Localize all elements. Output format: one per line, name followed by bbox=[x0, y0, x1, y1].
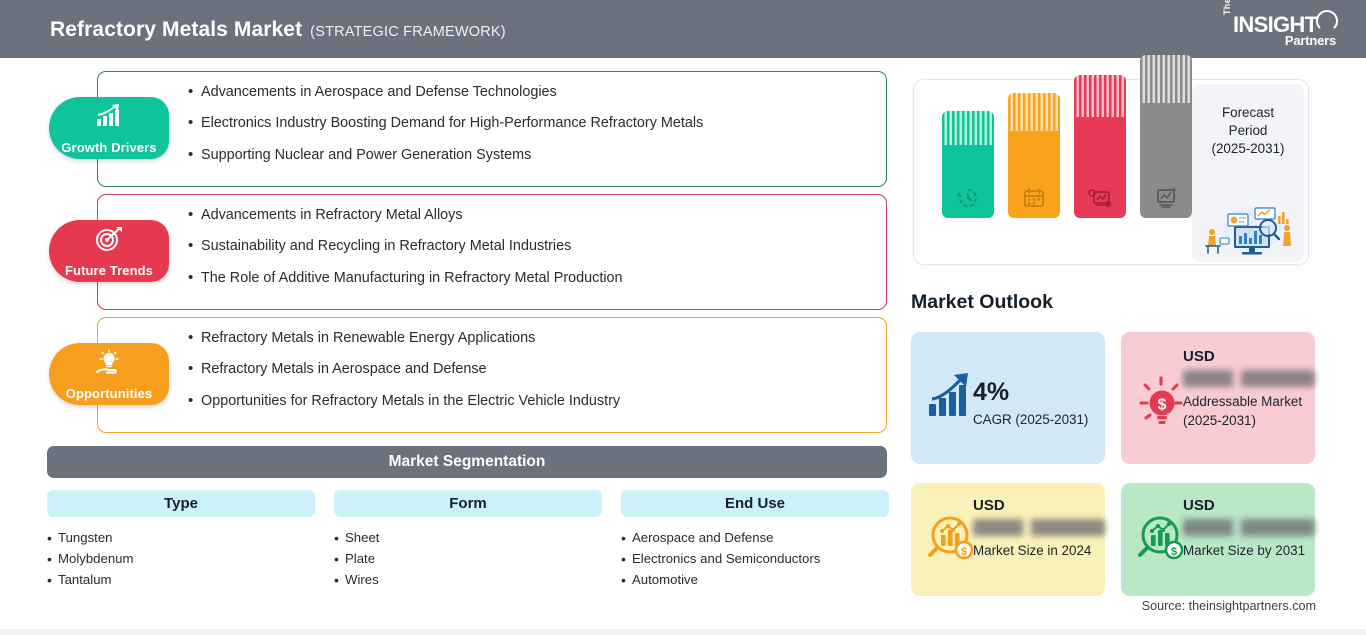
outlook-card-addressable-market[interactable]: $ USD Addressable Market (2025-2031) bbox=[1121, 332, 1315, 464]
chart-bar-estimated: 2025 Estimated Year bbox=[1074, 75, 1126, 218]
list-item: Wires bbox=[334, 570, 602, 591]
lightbulb-dollar-icon: $ bbox=[1133, 372, 1189, 428]
bar-stripe-top bbox=[1008, 93, 1060, 131]
segment-list-form: Sheet Plate Wires bbox=[334, 528, 602, 591]
list-item: Advancements in Aerospace and Defense Te… bbox=[188, 85, 886, 99]
infographic-page: Refractory Metals Market (STRATEGIC FRAM… bbox=[0, 0, 1366, 635]
list-item: Opportunities for Refractory Metals in t… bbox=[188, 394, 886, 408]
page-title: Refractory Metals Market bbox=[50, 18, 302, 42]
list-item: Supporting Nuclear and Power Generation … bbox=[188, 148, 886, 162]
chart-bar-projected: 2031 Projected Year bbox=[1140, 55, 1192, 218]
currency-label: USD bbox=[1183, 348, 1307, 365]
list-item: Plate bbox=[334, 549, 602, 570]
panel-growth-drivers: Advancements in Aerospace and Defense Te… bbox=[97, 71, 887, 187]
outlook-card-market-size-2031[interactable]: $ USD Market Size by 2031 bbox=[1121, 483, 1315, 596]
segment-header-type: Type bbox=[47, 490, 315, 517]
badge-growth-drivers[interactable]: Growth Drivers bbox=[49, 97, 169, 159]
list-item: Aerospace and Defense bbox=[621, 528, 889, 549]
segmentation-column-form: Form Sheet Plate Wires bbox=[334, 490, 602, 591]
bar-stripe-top bbox=[1140, 55, 1192, 103]
bar-solid-body bbox=[1008, 131, 1060, 218]
bar-solid-body bbox=[1140, 103, 1192, 218]
target-dart-icon bbox=[94, 226, 124, 252]
forecast-period-text: Forecast Period (2025-2031) bbox=[1192, 104, 1304, 158]
bar-solid-body bbox=[1074, 117, 1126, 218]
currency-label: USD bbox=[973, 497, 1097, 514]
list-item: Refractory Metals in Renewable Energy Ap… bbox=[188, 331, 886, 345]
badge-label: Opportunities bbox=[66, 387, 153, 400]
card-caption: Addressable Market (2025-2031) bbox=[1183, 393, 1307, 430]
list-item: Advancements in Refractory Metal Alloys bbox=[188, 208, 886, 222]
list-item: Tungsten bbox=[47, 528, 315, 549]
page-header: Refractory Metals Market (STRATEGIC FRAM… bbox=[0, 0, 1366, 58]
bottom-divider bbox=[0, 629, 1366, 635]
segmentation-column-type: Type Tungsten Molybdenum Tantalum bbox=[47, 490, 315, 591]
logo-partners-text: Partners bbox=[1285, 33, 1336, 48]
panel-future-trends: Advancements in Refractory Metal Alloys … bbox=[97, 194, 887, 310]
list-item: Sheet bbox=[334, 528, 602, 549]
currency-label: USD bbox=[1183, 497, 1307, 514]
forecast-period-panel: Forecast Period (2025-2031) bbox=[1192, 84, 1304, 262]
outlook-card-market-size-2024[interactable]: $ USD Market Size in 2024 bbox=[911, 483, 1105, 596]
market-outlook-title: Market Outlook bbox=[911, 291, 1053, 314]
history-clock-icon bbox=[955, 187, 981, 209]
segment-list-end-use: Aerospace and Defense Electronics and Se… bbox=[621, 528, 889, 591]
forecast-line-1: Forecast bbox=[1192, 104, 1304, 122]
logo-arc-icon bbox=[1316, 10, 1338, 32]
forecast-line-2: Period bbox=[1192, 122, 1304, 140]
insight-partners-logo: The INSIGHT Partners bbox=[1222, 9, 1342, 51]
list-item: Automotive bbox=[621, 570, 889, 591]
card-caption: Market Size in 2024 bbox=[973, 542, 1097, 561]
bullet-list-opportunities: Refractory Metals in Renewable Energy Ap… bbox=[98, 318, 886, 408]
segment-list-type: Tungsten Molybdenum Tantalum bbox=[47, 528, 315, 591]
bar-solid-body bbox=[942, 145, 994, 218]
segment-header-end-use: End Use bbox=[621, 490, 889, 517]
list-item: Electronics Industry Boosting Demand for… bbox=[188, 116, 886, 130]
badge-future-trends[interactable]: Future Trends bbox=[49, 220, 169, 282]
growth-chart-icon bbox=[94, 103, 124, 129]
cagr-caption: CAGR (2025-2031) bbox=[973, 412, 1097, 427]
card-caption: Market Size by 2031 bbox=[1183, 542, 1307, 561]
svg-text:$: $ bbox=[1171, 546, 1177, 558]
forecast-bar-chart: 2021-2023 Historical Years 2024 bbox=[926, 84, 1194, 262]
magnifier-bars-dollar-icon: $ bbox=[1133, 511, 1189, 567]
list-item: Refractory Metals in Aerospace and Defen… bbox=[188, 362, 886, 376]
badge-label: Growth Drivers bbox=[61, 141, 156, 154]
business-analytics-illustration bbox=[1198, 194, 1298, 256]
bar-stripe-top bbox=[1074, 75, 1126, 117]
chart-bar-historical: 2021-2023 Historical Years bbox=[942, 111, 994, 218]
outlook-card-cagr[interactable]: 4% CAGR (2025-2031) bbox=[911, 332, 1105, 464]
redacted-value bbox=[1183, 370, 1315, 387]
badge-opportunities[interactable]: Opportunities bbox=[49, 343, 169, 405]
page-subtitle: (STRATEGIC FRAMEWORK) bbox=[310, 24, 506, 40]
logo-the-text: The bbox=[1222, 0, 1232, 15]
projection-board-icon bbox=[1153, 187, 1179, 209]
forecast-analytics-icon bbox=[1087, 187, 1113, 209]
panel-opportunities: Refractory Metals in Renewable Energy Ap… bbox=[97, 317, 887, 433]
svg-text:$: $ bbox=[1158, 397, 1167, 414]
cagr-value: 4% bbox=[973, 380, 1097, 405]
list-item: Tantalum bbox=[47, 570, 315, 591]
segment-header-form: Form bbox=[334, 490, 602, 517]
calendar-icon bbox=[1021, 187, 1047, 209]
list-item: Electronics and Semiconductors bbox=[621, 549, 889, 570]
list-item: Sustainability and Recycling in Refracto… bbox=[188, 239, 886, 253]
svg-text:$: $ bbox=[961, 546, 967, 558]
badge-label: Future Trends bbox=[65, 264, 153, 277]
bar-stripe-top bbox=[942, 111, 994, 145]
market-segmentation-header: Market Segmentation bbox=[47, 446, 887, 478]
redacted-value bbox=[973, 519, 1105, 536]
magnifier-bars-dollar-icon: $ bbox=[923, 511, 979, 567]
chart-bar-base: 2024 bbox=[1008, 93, 1060, 218]
source-attribution: Source: theinsightpartners.com bbox=[1142, 599, 1316, 613]
forecast-timeline-card: 2021-2023 Historical Years 2024 bbox=[913, 79, 1309, 265]
list-item: The Role of Additive Manufacturing in Re… bbox=[188, 271, 886, 285]
forecast-line-3: (2025-2031) bbox=[1192, 140, 1304, 158]
lightbulb-hand-icon bbox=[94, 349, 124, 375]
list-item: Molybdenum bbox=[47, 549, 315, 570]
bullet-list-growth-drivers: Advancements in Aerospace and Defense Te… bbox=[98, 72, 886, 162]
header-title-group: Refractory Metals Market (STRATEGIC FRAM… bbox=[50, 18, 506, 42]
segmentation-column-end-use: End Use Aerospace and Defense Electronic… bbox=[621, 490, 889, 591]
bullet-list-future-trends: Advancements in Refractory Metal Alloys … bbox=[98, 195, 886, 285]
redacted-value bbox=[1183, 519, 1315, 536]
bar-growth-icon bbox=[923, 368, 979, 424]
